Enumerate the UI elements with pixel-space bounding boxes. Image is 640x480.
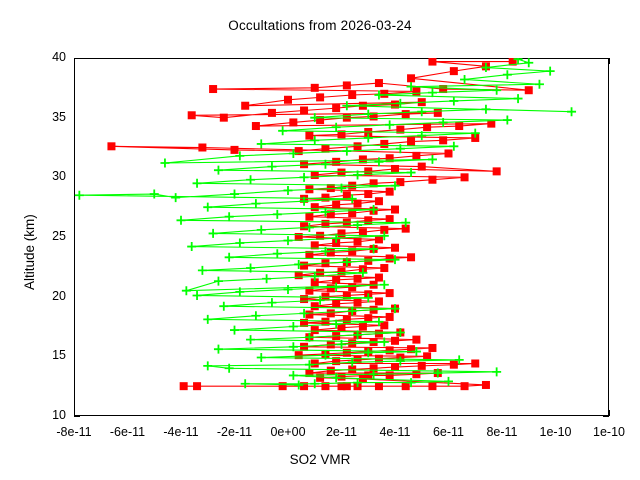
x-axis-tick-label: 1e-10: [575, 425, 640, 439]
data-point-marker: [546, 67, 555, 76]
data-point-marker: [300, 107, 308, 115]
data-point-marker: [386, 289, 394, 297]
data-point-marker: [407, 138, 415, 146]
data-point-marker: [412, 152, 420, 160]
data-point-marker: [332, 104, 340, 112]
data-point-marker: [407, 253, 415, 261]
y-axis-tick-label: 10: [14, 408, 66, 422]
data-point-marker: [203, 361, 212, 370]
y-axis-tick-label: 40: [14, 50, 66, 64]
data-point-marker: [193, 291, 202, 300]
data-point-marker: [327, 249, 335, 257]
data-point-marker: [567, 107, 576, 116]
data-point-marker: [391, 363, 399, 371]
data-point-marker: [332, 123, 341, 132]
data-point-marker: [492, 367, 501, 376]
series-line: [79, 59, 571, 385]
data-point-marker: [214, 277, 223, 286]
data-point-marker: [257, 139, 266, 148]
data-point-marker: [252, 122, 260, 130]
data-point-marker: [327, 367, 335, 375]
data-point-marker: [385, 120, 394, 129]
data-point-marker: [386, 254, 394, 262]
data-point-marker: [209, 85, 217, 93]
data-point-marker: [107, 142, 115, 150]
y-axis-tick: [603, 416, 609, 417]
data-point-marker: [375, 297, 383, 305]
data-point-marker: [342, 147, 351, 156]
data-point-marker: [428, 155, 437, 164]
data-point-marker: [220, 114, 228, 122]
data-point-marker: [338, 229, 346, 237]
data-point-marker: [412, 87, 420, 95]
data-point-marker: [450, 67, 458, 75]
plot-series-svg: [74, 58, 609, 416]
data-point-marker: [300, 173, 309, 182]
data-point-marker: [407, 74, 415, 82]
data-point-marker: [187, 242, 196, 251]
data-point-marker: [289, 371, 298, 380]
data-point-marker: [375, 274, 383, 282]
y-axis-tick-label: 25: [14, 229, 66, 243]
data-point-marker: [514, 94, 523, 103]
data-point-marker: [289, 322, 298, 331]
data-point-marker: [284, 186, 293, 195]
data-point-marker: [246, 175, 255, 184]
data-point-marker: [251, 199, 260, 208]
data-point-marker: [180, 382, 188, 390]
data-point-marker: [209, 229, 218, 238]
data-point-marker: [455, 122, 463, 130]
data-point-marker: [300, 222, 308, 230]
data-point-marker: [311, 359, 319, 367]
data-point-marker: [338, 373, 346, 381]
data-point-marker: [493, 167, 501, 175]
data-point-marker: [262, 274, 271, 283]
data-point-marker: [311, 171, 319, 179]
data-point-marker: [284, 285, 293, 294]
data-point-marker: [359, 323, 367, 331]
data-point-marker: [380, 90, 388, 98]
y-axis-tick-label: 35: [14, 110, 66, 124]
chart-root: Occultations from 2026-03-24 Altitude (k…: [0, 0, 640, 480]
data-point-marker: [461, 382, 469, 390]
y-axis-label: Altitude (km): [22, 214, 37, 290]
data-point-marker: [444, 377, 453, 386]
data-point-marker: [354, 299, 362, 307]
data-point-marker: [354, 200, 362, 208]
data-point-marker: [412, 336, 420, 344]
data-point-marker: [231, 146, 239, 154]
data-point-marker: [380, 140, 388, 148]
data-point-marker: [327, 284, 335, 292]
data-point-marker: [364, 216, 372, 224]
data-point-marker: [380, 280, 389, 289]
data-point-marker: [386, 215, 394, 223]
data-point-marker: [332, 300, 340, 308]
data-point-marker: [525, 86, 533, 94]
data-point-marker: [386, 371, 394, 379]
data-point-marker: [364, 314, 372, 322]
plot-data-area: [74, 58, 609, 416]
data-point-marker: [386, 346, 394, 354]
data-point-marker: [418, 362, 426, 370]
data-point-marker: [428, 382, 436, 390]
y-axis-tick: [74, 416, 80, 417]
x-axis-tick: [609, 410, 610, 416]
data-point-marker: [439, 136, 447, 144]
data-point-marker: [417, 107, 426, 116]
data-point-marker: [150, 190, 159, 199]
data-point-marker: [246, 335, 255, 344]
data-point-marker: [177, 216, 186, 225]
data-point-marker: [305, 213, 313, 221]
data-point-marker: [273, 249, 282, 258]
data-point-marker: [225, 212, 234, 221]
data-point-marker: [343, 81, 351, 89]
data-point-marker: [219, 302, 228, 311]
data-point-marker: [428, 344, 436, 352]
data-point-marker: [535, 80, 544, 89]
data-point-marker: [198, 144, 206, 152]
data-point-marker: [445, 149, 453, 157]
data-point-marker: [198, 266, 207, 275]
data-point-marker: [214, 345, 223, 354]
data-point-marker: [428, 58, 436, 66]
data-point-marker: [348, 91, 356, 99]
data-point-marker: [251, 311, 260, 320]
data-point-marker: [203, 203, 212, 212]
data-point-marker: [343, 349, 351, 357]
data-point-marker: [412, 370, 420, 378]
chart-title: Occultations from 2026-03-24: [0, 18, 640, 33]
data-point-marker: [267, 298, 276, 307]
data-point-marker: [449, 96, 458, 105]
x-axis-tick: [609, 58, 610, 64]
data-point-marker: [342, 101, 351, 110]
data-point-marker: [354, 142, 362, 150]
data-point-marker: [460, 75, 469, 84]
data-point-marker: [284, 236, 293, 245]
data-point-marker: [375, 79, 383, 87]
data-point-marker: [214, 166, 223, 175]
data-point-marker: [289, 118, 297, 126]
data-point-marker: [386, 188, 394, 196]
data-point-marker: [375, 197, 383, 205]
data-point-marker: [311, 326, 319, 334]
data-point-marker: [461, 173, 469, 181]
data-point-marker: [284, 96, 292, 104]
data-point-marker: [364, 190, 372, 198]
data-point-marker: [332, 201, 340, 209]
data-point-marker: [503, 116, 512, 125]
data-point-marker: [402, 110, 410, 118]
data-point-marker: [449, 142, 458, 151]
data-point-marker: [348, 283, 356, 291]
data-point-marker: [386, 313, 394, 321]
data-point-marker: [332, 158, 340, 166]
data-point-marker: [273, 210, 282, 219]
data-point-marker: [300, 262, 308, 270]
data-point-marker: [160, 159, 169, 168]
y-axis-tick-label: 30: [14, 169, 66, 183]
data-point-marker: [316, 93, 324, 101]
data-point-marker: [343, 315, 351, 323]
data-point-marker: [471, 359, 479, 367]
data-point-marker: [428, 176, 436, 184]
data-point-marker: [327, 309, 335, 317]
data-point-marker: [354, 275, 362, 283]
data-point-marker: [75, 191, 84, 200]
data-point-marker: [450, 361, 458, 369]
y-axis-tick-label: 15: [14, 348, 66, 362]
data-point-marker: [225, 253, 234, 262]
data-point-marker: [391, 206, 399, 214]
data-point-marker: [391, 244, 399, 252]
data-point-marker: [311, 302, 319, 310]
data-point-marker: [305, 132, 313, 140]
data-point-marker: [434, 109, 442, 117]
data-point-marker: [524, 58, 533, 67]
data-point-marker: [300, 295, 308, 303]
data-point-marker: [241, 379, 250, 388]
data-point-marker: [503, 70, 512, 79]
y-axis-tick-label: 20: [14, 289, 66, 303]
data-point-marker: [193, 179, 202, 188]
data-point-marker: [257, 353, 266, 362]
data-point-marker: [182, 286, 191, 295]
data-point-marker: [267, 162, 276, 171]
data-point-marker: [423, 123, 431, 131]
data-point-marker: [482, 381, 490, 389]
data-point-marker: [268, 109, 276, 117]
data-point-marker: [418, 163, 426, 171]
data-point-marker: [380, 264, 388, 272]
data-point-marker: [203, 315, 212, 324]
x-axis-label: SO2 VMR: [0, 452, 640, 467]
data-point-marker: [311, 84, 319, 92]
data-point-marker: [375, 382, 383, 390]
data-point-marker: [311, 203, 319, 211]
data-point-marker: [481, 105, 490, 114]
data-point-marker: [193, 382, 201, 390]
data-point-marker: [391, 337, 399, 345]
data-point-marker: [241, 102, 249, 110]
data-point-marker: [235, 238, 244, 247]
data-point-marker: [305, 311, 313, 319]
data-point-marker: [230, 326, 239, 335]
data-point-marker: [171, 193, 180, 202]
data-point-marker: [278, 126, 287, 135]
data-point-marker: [257, 225, 266, 234]
data-point-marker: [354, 238, 362, 246]
data-point-marker: [188, 111, 196, 119]
